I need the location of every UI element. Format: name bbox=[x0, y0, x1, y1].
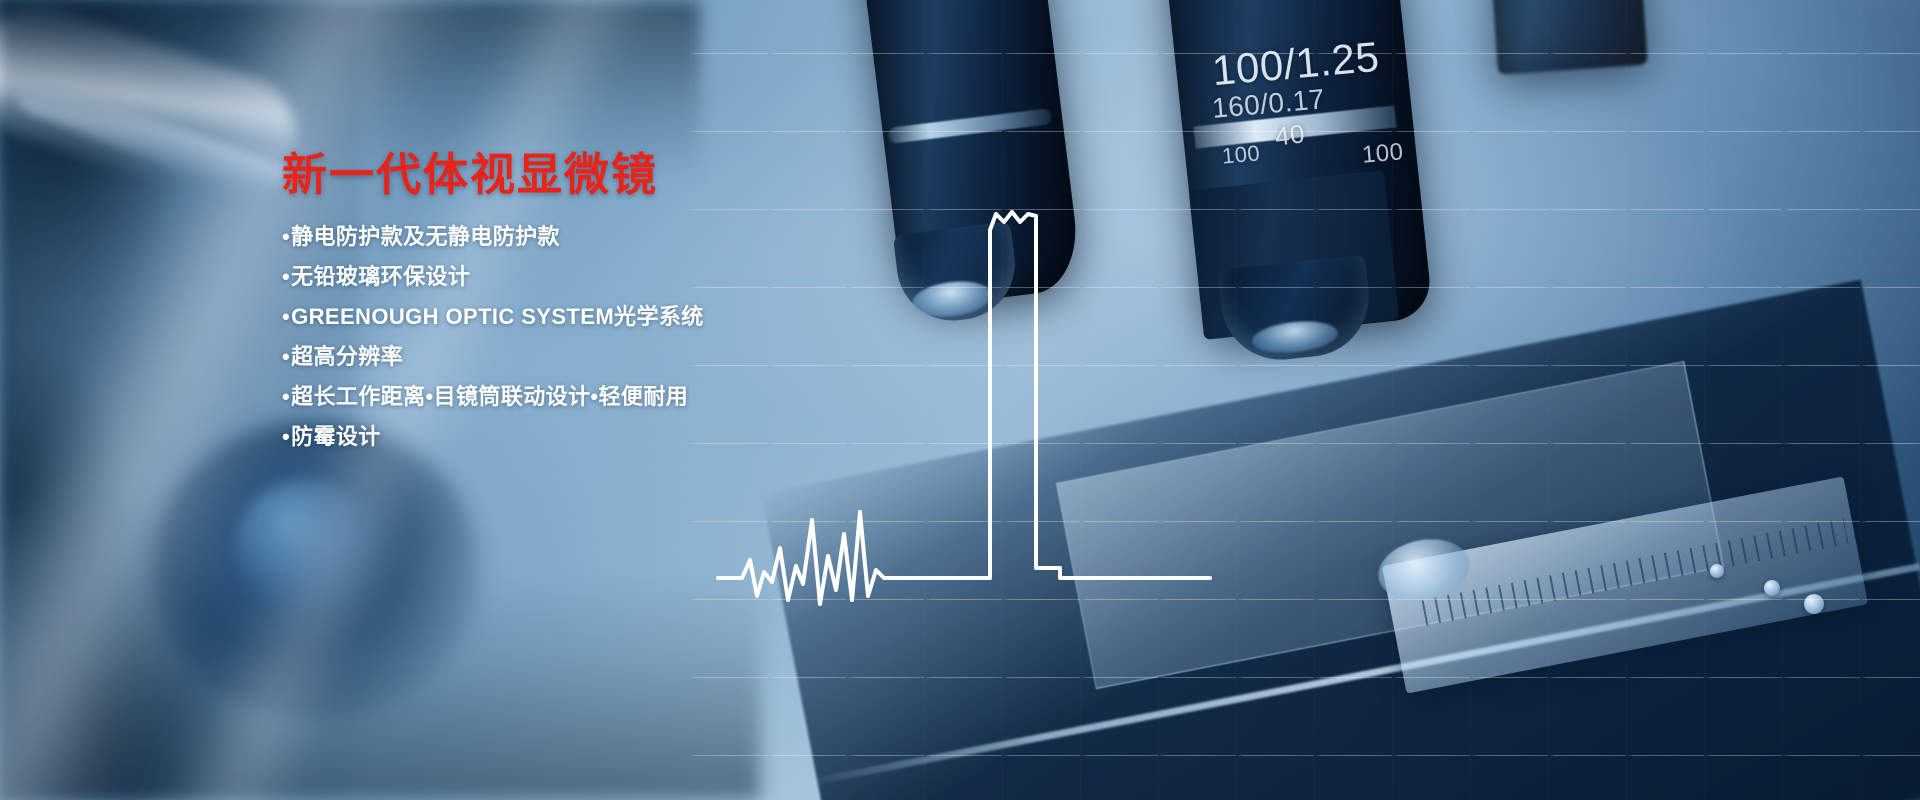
vignette-overlay bbox=[0, 0, 1920, 800]
hero-banner: 100/1.25 160/0.17 40 100 100 新一代体视 bbox=[0, 0, 1920, 800]
